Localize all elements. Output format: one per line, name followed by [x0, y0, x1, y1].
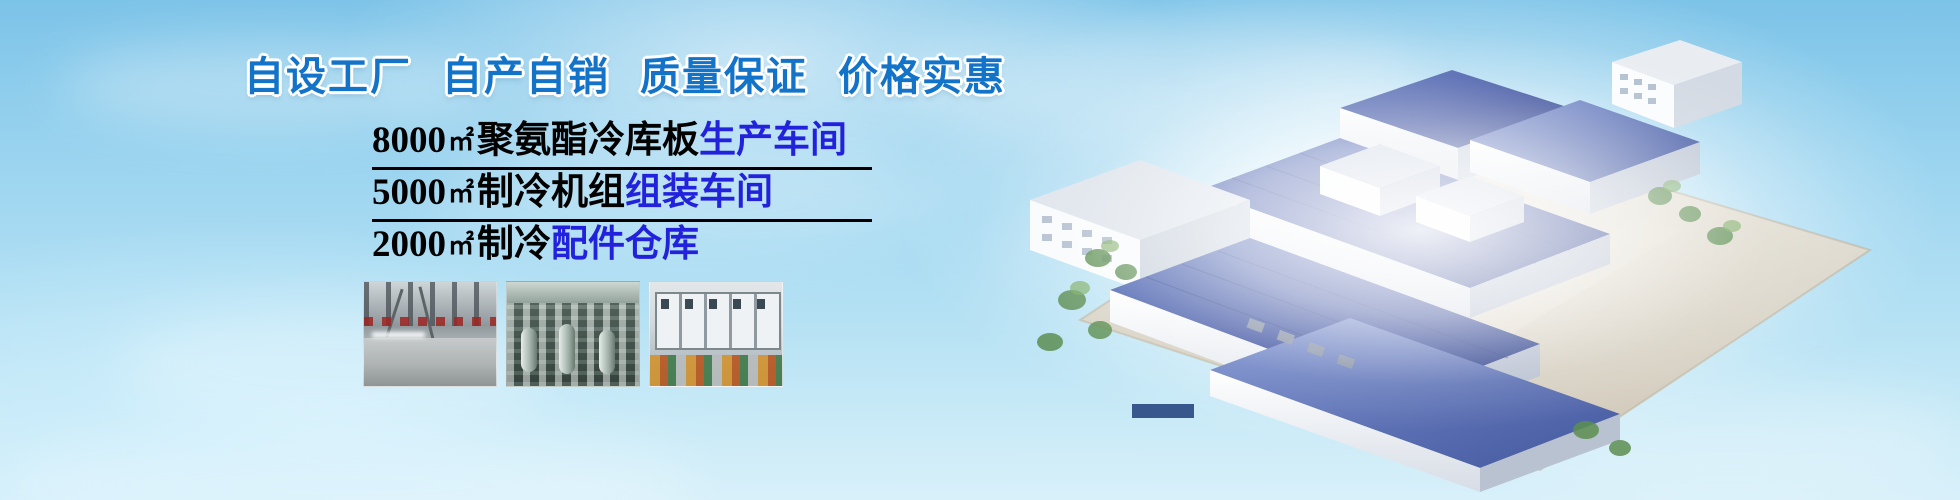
panel-indicator-row — [661, 299, 772, 309]
spec-highlight: 生产车间 — [699, 120, 847, 161]
compressor-tank — [559, 324, 575, 374]
promo-banner: 自设工厂自产自销质量保证价格实惠 8000㎡聚氨酯冷库板生产车间 5000㎡制冷… — [0, 0, 1960, 500]
spec-text: 聚氨酯冷库板 — [477, 120, 699, 161]
spec-text: 制冷 — [477, 224, 551, 265]
spec-number: 8000 — [372, 120, 446, 161]
refrigeration-units-photo — [506, 281, 640, 387]
workshop-interior-photo — [363, 281, 497, 387]
spec-unit: ㎡ — [446, 127, 477, 156]
spec-text: 制冷机组 — [477, 172, 625, 213]
spec-number: 2000 — [372, 224, 446, 265]
light-glare — [372, 332, 425, 338]
headline-segment-4: 价格实惠 — [838, 44, 1006, 102]
control-panels-photo — [649, 281, 783, 387]
photo-strip — [363, 281, 783, 387]
spec-highlight: 组装车间 — [625, 172, 773, 213]
headline: 自设工厂自产自销质量保证价格实惠 — [0, 44, 1250, 102]
spec-list: 8000㎡聚氨酯冷库板生产车间 5000㎡制冷机组组装车间 2000㎡制冷配件仓… — [372, 118, 872, 271]
headline-segment-3: 质量保证 — [640, 44, 808, 102]
headline-segment-1: 自设工厂 — [244, 44, 412, 102]
spec-line: 2000㎡制冷配件仓库 — [372, 222, 872, 271]
factory-floor — [364, 338, 496, 386]
spec-number: 5000 — [372, 172, 446, 213]
spec-unit: ㎡ — [446, 179, 477, 208]
spec-unit: ㎡ — [446, 231, 477, 260]
cloud-wisp — [0, 430, 700, 500]
compressor-tank — [599, 330, 615, 374]
headline-segment-2: 自产自销 — [442, 44, 610, 102]
spec-line: 8000㎡聚氨酯冷库板生产车间 — [372, 118, 872, 170]
roof-beam — [385, 289, 403, 337]
spec-highlight: 配件仓库 — [551, 224, 699, 265]
spec-line: 5000㎡制冷机组组装车间 — [372, 170, 872, 222]
compressor-tank — [521, 328, 537, 372]
